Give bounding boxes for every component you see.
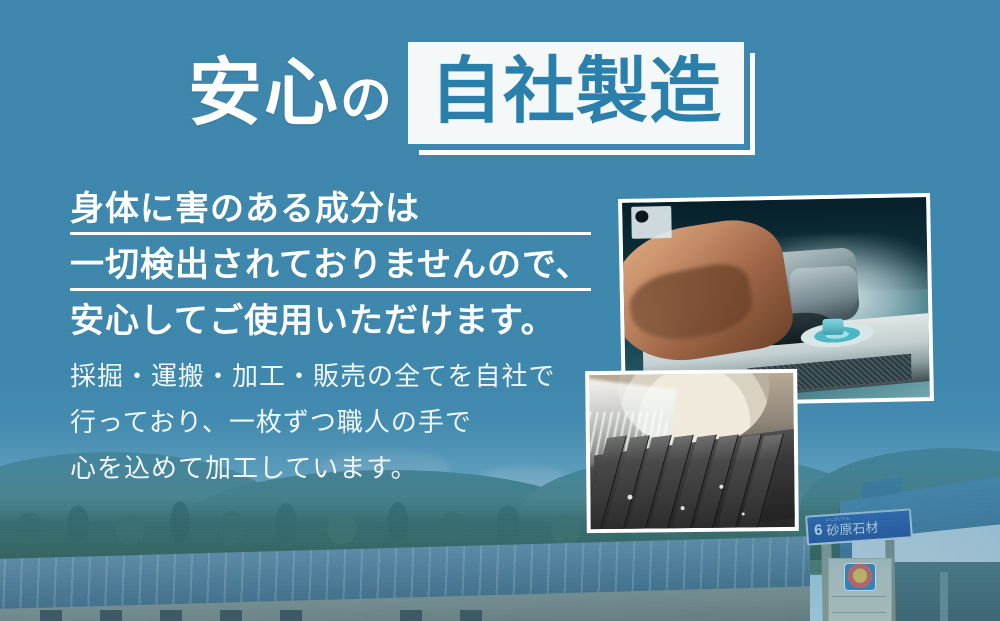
headline-particle: の — [340, 72, 394, 130]
stone-cutting-photo-image — [589, 373, 795, 529]
headline: 安心の 自社製造 — [188, 42, 744, 144]
headline-prefix-text: 安心 — [188, 51, 340, 134]
water-droplet — [719, 485, 723, 489]
body-line: 採掘・運搬・加工・販売の全てを自社で — [70, 363, 555, 389]
headline-box-text: 自社製造 — [430, 56, 722, 128]
headline-box-wrap: 自社製造 — [408, 42, 744, 144]
lead-line: 安心してご使用いただけます。 — [70, 304, 591, 338]
disc-hub — [822, 319, 844, 335]
water-droplet — [627, 495, 632, 500]
body-text: 採掘・運搬・加工・販売の全てを自社で 行っており、一枚ずつ職人の手で 心を込めて… — [70, 363, 555, 501]
headline-prefix: 安心の — [188, 56, 394, 130]
body-line: 心を込めて加工しています。 — [70, 455, 555, 481]
headline-box: 自社製造 — [408, 42, 744, 144]
lead-line: 身体に害のある成分は — [70, 192, 591, 235]
lead-line: 一切検出されておりませんので、 — [70, 248, 591, 291]
water-droplet — [742, 512, 745, 515]
stone-cutting-photo — [585, 369, 799, 533]
lead-text: 身体に害のある成分は 一切検出されておりませんので、 安心してご使用いただけます… — [70, 192, 591, 338]
photo-corner-mark — [631, 206, 671, 239]
body-line: 行っており、一枚ずつ職人の手で — [70, 409, 555, 435]
promo-banner: 6 いしざいてん 砂原石材 安心の 自社製造 身体に害のある成分は 一切検出され… — [0, 0, 1000, 621]
